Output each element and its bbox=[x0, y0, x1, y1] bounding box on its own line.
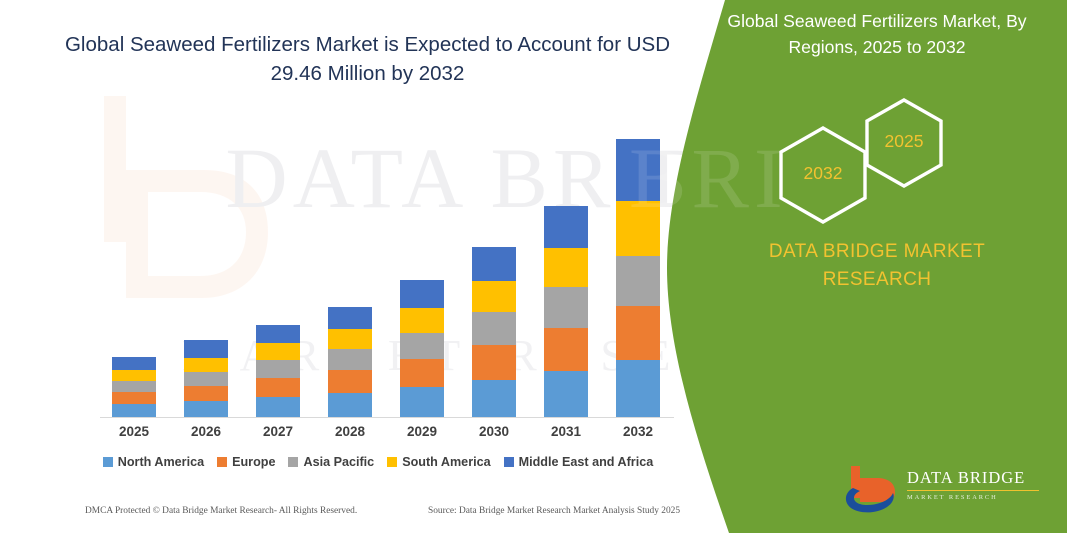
legend-label-middle-east-and-africa: Middle East and Africa bbox=[519, 455, 654, 469]
legend-item-europe[interactable]: Europe bbox=[217, 455, 275, 469]
panel-brand-line2: RESEARCH bbox=[703, 266, 1051, 294]
bar-segment-middle-east-and-africa bbox=[256, 325, 300, 343]
bar-segment-north-america bbox=[616, 360, 660, 417]
legend-label-europe: Europe bbox=[232, 455, 275, 469]
bar-segment-europe bbox=[616, 306, 660, 360]
bar-segment-south-america bbox=[544, 248, 588, 287]
x-axis-line bbox=[100, 417, 674, 418]
bar-segment-north-america bbox=[184, 401, 228, 417]
x-axis-tick-labels: 20252026202720282029203020312032 bbox=[78, 424, 678, 444]
bar-segment-south-america bbox=[256, 343, 300, 360]
bar-segment-asia-pacific bbox=[616, 256, 660, 306]
logo-wordmark: DATA BRIDGE MARKET RESEARCH bbox=[907, 468, 1039, 501]
legend-item-south-america[interactable]: South America bbox=[387, 455, 490, 469]
x-tick-2025: 2025 bbox=[112, 424, 156, 439]
bar-2026 bbox=[184, 340, 228, 417]
bar-segment-europe bbox=[400, 359, 444, 387]
infographic-canvas: DATA BRIDGE MARKET RESEARCH Global Seawe… bbox=[0, 0, 1067, 533]
bar-segment-south-america bbox=[616, 201, 660, 256]
bar-segment-europe bbox=[328, 370, 372, 393]
bar-segment-north-america bbox=[544, 371, 588, 417]
chart-legend: North AmericaEuropeAsia PacificSouth Ame… bbox=[78, 455, 678, 469]
legend-swatch-europe bbox=[217, 457, 227, 467]
hexagon-2032: 2032 bbox=[777, 125, 869, 225]
legend-swatch-north-america bbox=[103, 457, 113, 467]
logo-mark-icon bbox=[843, 464, 903, 516]
bar-2030 bbox=[472, 247, 516, 417]
bar-segment-asia-pacific bbox=[400, 333, 444, 359]
bar-segment-south-america bbox=[112, 370, 156, 381]
bar-segment-europe bbox=[112, 392, 156, 404]
panel-brand-line1: DATA BRIDGE MARKET bbox=[703, 238, 1051, 266]
x-tick-2030: 2030 bbox=[472, 424, 516, 439]
page-title: Global Seaweed Fertilizers Market is Exp… bbox=[60, 30, 675, 88]
legend-label-north-america: North America bbox=[118, 455, 204, 469]
bar-segment-middle-east-and-africa bbox=[112, 357, 156, 370]
footer: DMCA Protected © Data Bridge Market Rese… bbox=[0, 506, 690, 528]
bar-segment-middle-east-and-africa bbox=[328, 307, 372, 329]
legend-swatch-asia-pacific bbox=[288, 457, 298, 467]
bar-segment-south-america bbox=[328, 329, 372, 349]
bar-segment-asia-pacific bbox=[112, 381, 156, 392]
x-tick-2032: 2032 bbox=[616, 424, 660, 439]
logo-name: DATA BRIDGE bbox=[907, 468, 1039, 488]
legend-label-south-america: South America bbox=[402, 455, 490, 469]
logo-divider bbox=[907, 490, 1039, 491]
bar-2028 bbox=[328, 307, 372, 417]
x-tick-2031: 2031 bbox=[544, 424, 588, 439]
bar-segment-north-america bbox=[400, 387, 444, 417]
bar-2027 bbox=[256, 325, 300, 417]
hexagon-2032-label: 2032 bbox=[777, 163, 869, 184]
bar-segment-asia-pacific bbox=[472, 312, 516, 345]
legend-swatch-south-america bbox=[387, 457, 397, 467]
bar-segment-middle-east-and-africa bbox=[544, 206, 588, 248]
legend-swatch-middle-east-and-africa bbox=[504, 457, 514, 467]
bar-segment-europe bbox=[544, 328, 588, 371]
bar-2025 bbox=[112, 357, 156, 417]
panel-brand: DATA BRIDGE MARKET RESEARCH bbox=[703, 238, 1051, 293]
bar-segment-north-america bbox=[256, 397, 300, 417]
legend-item-asia-pacific[interactable]: Asia Pacific bbox=[288, 455, 374, 469]
x-tick-2027: 2027 bbox=[256, 424, 300, 439]
bar-segment-north-america bbox=[112, 404, 156, 417]
bar-segment-europe bbox=[472, 345, 516, 380]
legend-item-north-america[interactable]: North America bbox=[103, 455, 204, 469]
bar-segment-south-america bbox=[184, 358, 228, 372]
footer-copyright: DMCA Protected © Data Bridge Market Rese… bbox=[85, 506, 357, 516]
hexagon-2025-label: 2025 bbox=[863, 131, 945, 152]
hexagon-2025: 2025 bbox=[863, 97, 945, 189]
footer-source: Source: Data Bridge Market Research Mark… bbox=[428, 506, 680, 516]
bar-segment-middle-east-and-africa bbox=[184, 340, 228, 358]
x-tick-2029: 2029 bbox=[400, 424, 444, 439]
stacked-bar-chart bbox=[78, 110, 678, 418]
x-tick-2028: 2028 bbox=[328, 424, 372, 439]
bar-segment-asia-pacific bbox=[328, 349, 372, 370]
logo-tagline: MARKET RESEARCH bbox=[907, 494, 1039, 501]
bar-segment-europe bbox=[184, 386, 228, 401]
bar-segment-asia-pacific bbox=[184, 372, 228, 386]
chart-plot-area bbox=[100, 110, 668, 418]
legend-item-middle-east-and-africa[interactable]: Middle East and Africa bbox=[504, 455, 654, 469]
bar-segment-middle-east-and-africa bbox=[400, 280, 444, 308]
bar-segment-europe bbox=[256, 378, 300, 397]
bar-segment-south-america bbox=[472, 281, 516, 312]
x-tick-2026: 2026 bbox=[184, 424, 228, 439]
bar-2029 bbox=[400, 280, 444, 417]
bar-2032 bbox=[616, 139, 660, 417]
bar-segment-middle-east-and-africa bbox=[472, 247, 516, 281]
bar-2031 bbox=[544, 206, 588, 417]
hexagon-group: 2025 2032 bbox=[757, 95, 1057, 225]
bar-segment-north-america bbox=[328, 393, 372, 417]
right-green-panel: BRI Global Seaweed Fertilizers Market, B… bbox=[667, 0, 1067, 533]
legend-label-asia-pacific: Asia Pacific bbox=[303, 455, 374, 469]
bar-segment-asia-pacific bbox=[544, 287, 588, 328]
panel-title: Global Seaweed Fertilizers Market, By Re… bbox=[703, 8, 1051, 61]
bar-segment-asia-pacific bbox=[256, 360, 300, 378]
company-logo: DATA BRIDGE MARKET RESEARCH bbox=[843, 462, 1048, 518]
bar-segment-south-america bbox=[400, 308, 444, 333]
bar-segment-north-america bbox=[472, 380, 516, 417]
bar-segment-middle-east-and-africa bbox=[616, 139, 660, 201]
